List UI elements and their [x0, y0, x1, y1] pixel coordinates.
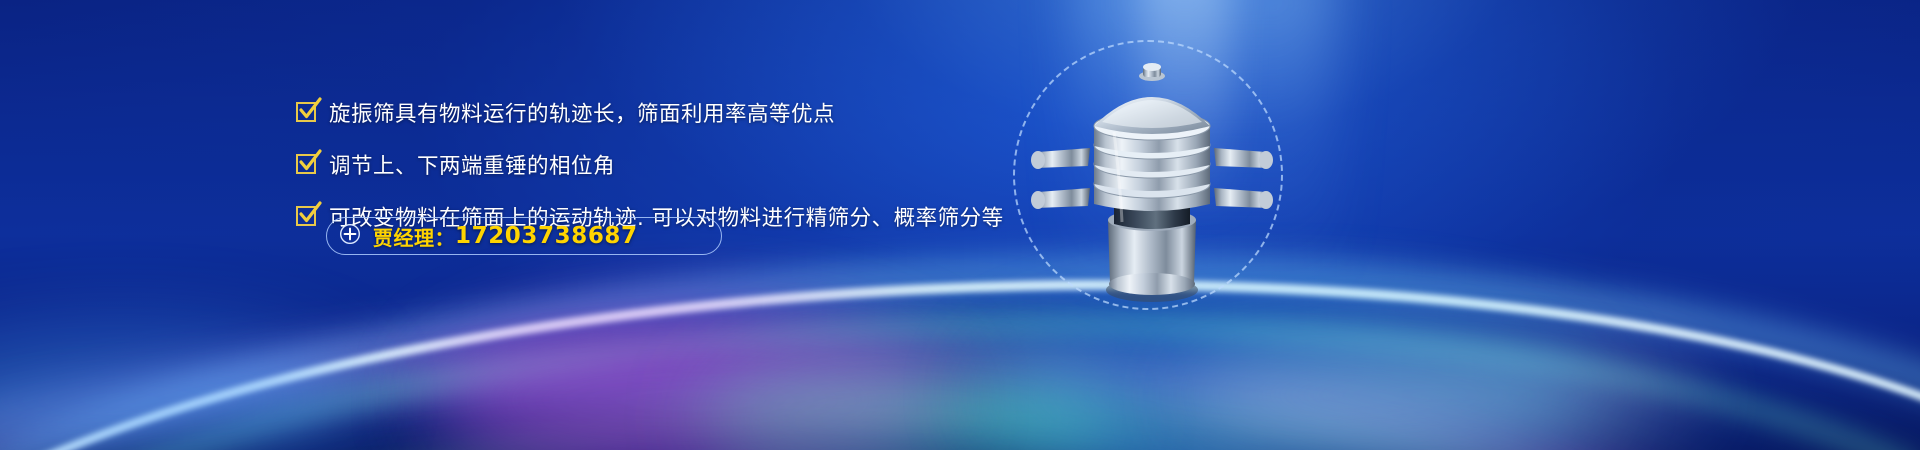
list-item: 旋振筛具有物料运行的轨迹长，筛面利用率高等优点 [296, 89, 1004, 135]
contact-phone-button[interactable]: 贾经理： 17203738687 [326, 217, 722, 255]
contact-phone-number: 17203738687 [455, 223, 638, 249]
checkbox-checked-icon [296, 206, 316, 226]
checkbox-checked-icon [296, 154, 316, 174]
checkbox-checked-icon [296, 102, 316, 122]
rotary-vibrating-screen-icon [1002, 52, 1302, 317]
list-item: 调节上、下两端重锤的相位角 [296, 141, 1004, 187]
list-item-label: 旋振筛具有物料运行的轨迹长，筛面利用率高等优点 [329, 97, 835, 128]
promo-banner: 旋振筛具有物料运行的轨迹长，筛面利用率高等优点 调节上、下两端重锤的相位角 可改… [0, 0, 1920, 450]
plus-circle-icon [339, 223, 361, 250]
contact-name-label: 贾经理： [373, 222, 455, 251]
list-item-label: 调节上、下两端重锤的相位角 [329, 149, 615, 180]
